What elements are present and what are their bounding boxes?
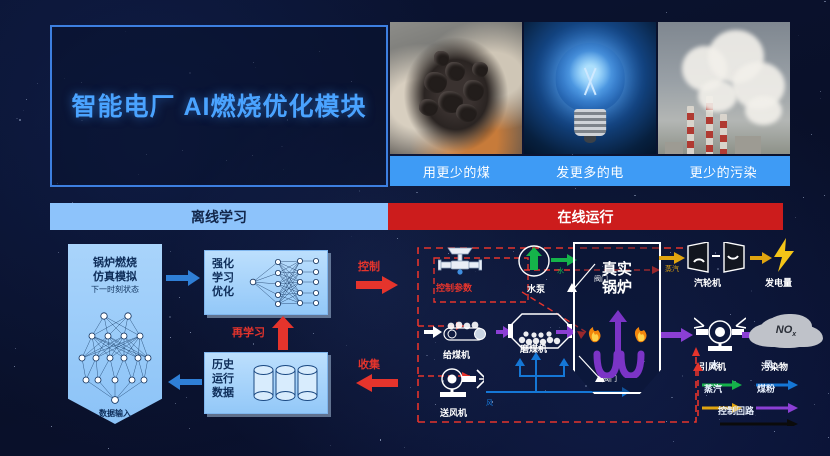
- water-flow-tag: 水: [557, 266, 564, 276]
- caption-coal: 用更少的煤: [390, 162, 523, 181]
- rl-label-line2: 学习: [212, 272, 234, 285]
- coal-feeder-label: 给煤机: [443, 348, 470, 361]
- control-label: 控制: [358, 258, 380, 274]
- caption-smoke: 更少的污染: [657, 162, 790, 181]
- water-pump-label: 水泵: [527, 282, 545, 295]
- arrow-coal-in: [424, 326, 442, 338]
- water-pump-icon: [517, 244, 551, 278]
- rl-neural-net: [248, 256, 322, 308]
- title-panel: 智能电厂 AI燃烧优化模块: [50, 25, 388, 187]
- nox-subscript: x: [792, 331, 796, 338]
- turbine-label: 汽轮机: [694, 276, 721, 289]
- photo-coal-in-hands: [390, 22, 522, 154]
- nox-label: NO: [776, 324, 793, 336]
- rl-label-line1: 强化: [212, 258, 234, 271]
- phase-offline-learning: 离线学习: [50, 203, 388, 230]
- page-title: 智能电厂 AI燃烧优化模块: [52, 87, 386, 123]
- simulation-output-label: 下一时刻状态: [68, 284, 162, 295]
- steam-flow-tag: 蒸汽: [665, 264, 679, 274]
- phase-bar: 离线学习 在线运行: [50, 203, 783, 230]
- arrow-turbine-to-power: [750, 252, 772, 264]
- legend-arrows: [700, 372, 810, 426]
- arrow-sim-to-rl: [166, 270, 202, 286]
- valve-icon: [438, 246, 482, 278]
- control-params-label: 控制参数: [436, 281, 472, 294]
- relearn-label: 再学习: [232, 324, 265, 340]
- blower-label: 送风机: [440, 406, 467, 419]
- history-label-line2: 运行: [212, 373, 234, 386]
- simulation-title-line2: 仿真模拟: [68, 268, 162, 284]
- legend-label-steam: 蒸汽: [704, 382, 722, 395]
- arrow-steam-to-turbine: [659, 252, 685, 264]
- boiler-flame-and-flow: [585, 310, 651, 378]
- arrow-control: [356, 276, 398, 294]
- valve-top-label: 阀门: [594, 274, 608, 284]
- history-label-line1: 历史: [212, 359, 234, 372]
- arrow-fan-feedback: [690, 358, 706, 418]
- nox-text: NOx: [758, 324, 814, 338]
- collect-label: 收集: [358, 356, 380, 372]
- arrow-fluegas-to-fan: [661, 328, 693, 342]
- photo-smokestacks: [658, 22, 790, 154]
- induced-draft-fan-icon: [694, 314, 746, 358]
- slide-root: 智能电厂 AI燃烧优化模块: [0, 0, 830, 456]
- rl-label-line3: 优化: [212, 286, 234, 299]
- air-flow-tag: 风: [486, 398, 493, 408]
- arrow-collect: [356, 374, 398, 392]
- simulation-input-label: 数据输入: [68, 408, 162, 419]
- legend-label-control-loop: 控制回路: [718, 404, 754, 417]
- history-label-line3: 数据: [212, 387, 234, 400]
- photo-captions: 用更少的煤 发更多的电 更少的污染: [390, 156, 790, 186]
- arrow-history-to-sim: [166, 374, 202, 390]
- legend-label-pulverized-coal: 煤粉: [757, 382, 775, 395]
- caption-bulb: 发更多的电: [523, 162, 656, 181]
- turbine-icon: [686, 242, 750, 274]
- legend-label-air: 风: [764, 358, 773, 371]
- power-bolt-icon: [772, 238, 798, 272]
- database-cylinders-icon: [250, 360, 320, 406]
- legend-label-water: 水: [710, 358, 719, 371]
- power-output-label: 发电量: [765, 276, 792, 289]
- photo-strip: [390, 22, 790, 154]
- arrow-relearn: [272, 316, 294, 350]
- simulation-neural-net: [74, 296, 156, 404]
- photo-light-bulb: [524, 22, 656, 154]
- phase-online-running: 在线运行: [388, 203, 783, 230]
- architecture-diagram: 锅炉燃烧 仿真模拟 下一时刻状态 数据输入: [0, 232, 830, 456]
